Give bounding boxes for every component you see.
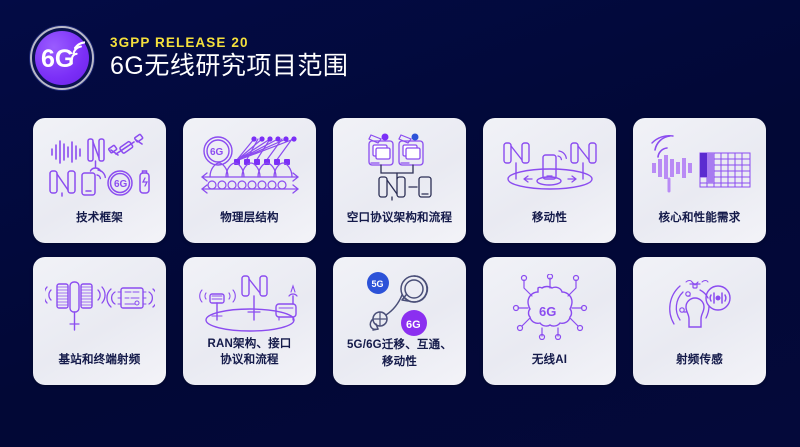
card-label: RAN架构、接口 协议和流程 [207,336,291,369]
header: 6G 3GPP RELEASE 20 6G无线研究项目范围 [30,26,348,90]
card-label: 射频传感 [676,352,723,369]
waveform-satellite-antenna-phone-6g-battery-icon: 6G [39,132,160,198]
6g-waveform-beamforming-icon: 6G [189,132,310,198]
handover-antennas-phone-icon [489,132,610,198]
protocol-stack-servers-devices-icon [339,132,460,198]
card-mobility[interactable]: 移动性 [483,118,616,243]
base-station-array-chip-rf-icon [39,271,160,343]
ai-brain-chip-6g-icon: 6G [489,271,610,343]
card-wireless-ai[interactable]: 6G 无线AI [483,257,616,385]
kicker-label: 3GPP RELEASE 20 [110,35,348,50]
card-tech-framework[interactable]: 6G 技术框架 [33,118,166,243]
svg-text:6G: 6G [41,45,74,73]
svg-text:6G: 6G [406,319,421,331]
topic-card-grid: 6G 技术框架 6G [33,118,769,385]
logo-disc: 6G [35,31,89,85]
card-core-performance[interactable]: 核心和性能需求 [633,118,766,243]
card-ran-architecture[interactable]: RAN架构、接口 协议和流程 [183,257,316,385]
card-label: 移动性 [532,210,567,227]
card-label: 无线AI [532,352,567,369]
svg-text:6G: 6G [114,179,128,190]
header-text: 3GPP RELEASE 20 6G无线研究项目范围 [110,35,348,81]
card-bs-ue-rf[interactable]: 基站和终端射频 [33,257,166,385]
svg-text:6G: 6G [210,147,224,158]
5g-6g-migration-loop-icon: 5G 6G [339,271,460,337]
card-physical-layer[interactable]: 6G [183,118,316,243]
card-air-interface[interactable]: 空口协议架构和流程 [333,118,466,243]
card-label: 空口协议架构和流程 [347,210,452,227]
card-label: 技术框架 [76,210,123,227]
card-label: 基站和终端射频 [59,352,141,369]
card-rf-sensing[interactable]: 射频传感 [633,257,766,385]
card-label: 5G/6G迁移、互通、 移动性 [347,337,452,370]
slide-root: 6G 3GPP RELEASE 20 6G无线研究项目范围 [0,0,800,447]
card-label: 核心和性能需求 [659,210,741,227]
fingerprint-radar-drone-sensing-icon [639,271,760,343]
card-5g6g-interworking[interactable]: 5G 6G 5G/6G迁移、互通、 移动性 [333,257,466,385]
ran-topology-nodes-icon [189,271,310,336]
svg-text:6G: 6G [539,304,556,319]
page-title: 6G无线研究项目范围 [110,52,348,81]
card-label: 物理层结构 [220,210,279,227]
antenna-signal-grid-table-icon [639,132,760,198]
6g-signal-logo-icon: 6G [30,26,94,90]
svg-text:5G: 5G [371,279,383,289]
